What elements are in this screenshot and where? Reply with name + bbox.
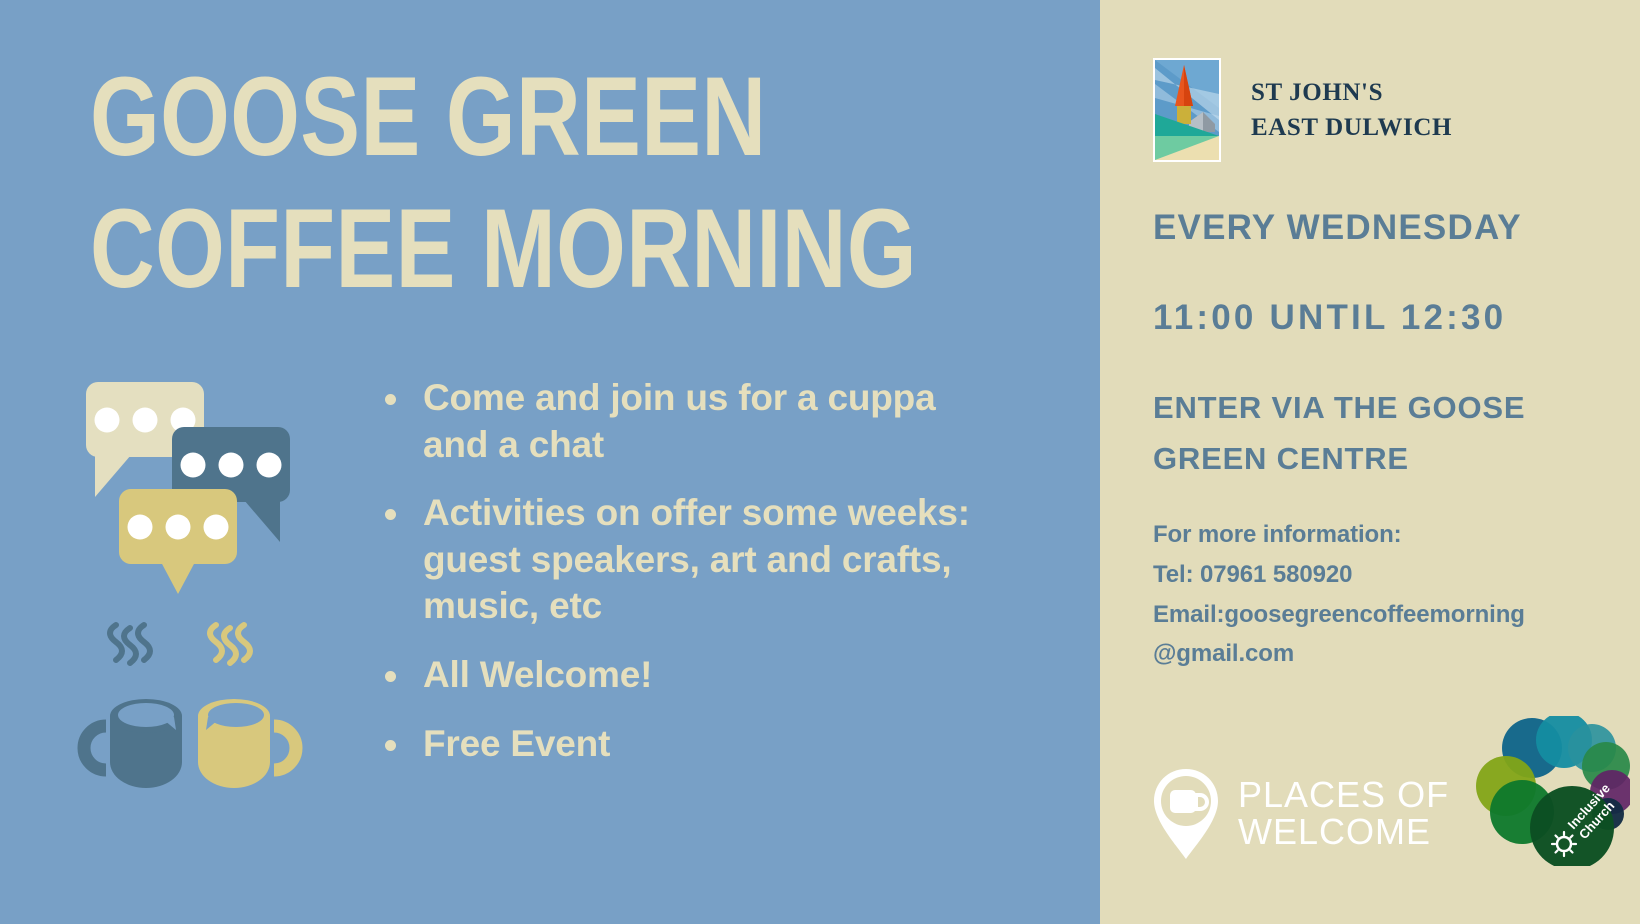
pow-line-1: PLACES OF xyxy=(1238,777,1449,814)
contact-email-line-2: @gmail.com xyxy=(1153,634,1623,674)
contact-block: For more information: Tel: 07961 580920 … xyxy=(1153,515,1623,674)
poster-root: GOOSE GREEN COFFEE MORNING xyxy=(0,0,1640,924)
event-entrance: ENTER VIA THE GOOSE GREEN CENTRE xyxy=(1153,382,1623,485)
list-item: Activities on offer some weeks: guest sp… xyxy=(385,490,1005,630)
speech-bubble-gold xyxy=(119,489,237,564)
event-day: EVERY WEDNESDAY xyxy=(1153,208,1623,248)
places-of-welcome-logo: PLACES OF WELCOME xyxy=(1150,766,1449,862)
list-item: All Welcome! xyxy=(385,652,1005,699)
map-pin-cup-icon xyxy=(1150,766,1222,862)
contact-tel: Tel: 07961 580920 xyxy=(1153,555,1623,595)
speech-bubbles-icon xyxy=(86,382,301,587)
contact-email-line-1: Email:goosegreencoffeemorning xyxy=(1153,595,1623,635)
brand-block: ST JOHN'S EAST DULWICH xyxy=(1153,58,1452,162)
contact-intro: For more information: xyxy=(1153,515,1623,555)
bullet-dot-icon xyxy=(385,509,396,520)
pow-line-2: WELCOME xyxy=(1238,814,1449,851)
bullet-text: All Welcome! xyxy=(423,652,652,699)
coffee-mugs-svg xyxy=(72,616,312,796)
brand-line-2: EAST DULWICH xyxy=(1251,110,1452,146)
title-line-1: GOOSE GREEN xyxy=(90,62,858,172)
list-item: Come and join us for a cuppa and a chat xyxy=(385,375,1005,468)
places-of-welcome-text: PLACES OF WELCOME xyxy=(1238,777,1449,850)
inclusive-church-circles-logo: Inclusive Church xyxy=(1460,716,1630,866)
st-johns-church-spire-logo xyxy=(1153,58,1221,162)
bullet-dot-icon xyxy=(385,740,396,751)
bullet-list: Come and join us for a cuppa and a chat … xyxy=(385,375,1005,767)
page-title: GOOSE GREEN COFFEE MORNING xyxy=(90,62,1050,304)
event-time: 11:00 UNTIL 12:30 xyxy=(1153,298,1623,338)
bubble-dots-gold xyxy=(128,514,229,539)
brand-name: ST JOHN'S EAST DULWICH xyxy=(1251,75,1452,146)
church-spire-svg xyxy=(1155,60,1219,160)
inclusive-church-svg: Inclusive Church xyxy=(1460,716,1630,866)
bullet-dot-icon xyxy=(385,394,396,405)
right-cream-panel: ST JOHN'S EAST DULWICH EVERY WEDNESDAY 1… xyxy=(1100,0,1640,924)
brand-line-1: ST JOHN'S xyxy=(1251,75,1452,111)
event-details: EVERY WEDNESDAY 11:00 UNTIL 12:30 ENTER … xyxy=(1153,208,1623,674)
bubble-tail-slate xyxy=(244,500,280,542)
bubble-dots-slate xyxy=(181,452,282,477)
bubble-tail-gold xyxy=(161,562,195,594)
bullet-text: Come and join us for a cuppa and a chat xyxy=(423,375,1005,468)
list-item: Free Event xyxy=(385,721,1005,768)
bullet-text: Activities on offer some weeks: guest sp… xyxy=(423,490,1005,630)
left-blue-panel: GOOSE GREEN COFFEE MORNING xyxy=(0,0,1100,924)
bullet-text: Free Event xyxy=(423,721,610,768)
title-line-2: COFFEE MORNING xyxy=(90,194,858,304)
coffee-mugs-icon xyxy=(72,616,312,796)
bullet-dot-icon xyxy=(385,671,396,682)
